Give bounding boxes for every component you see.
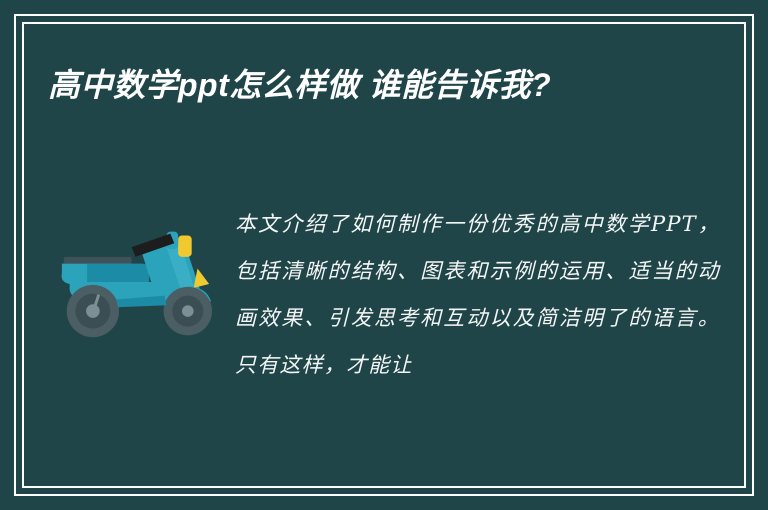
scooter-icon (58, 217, 213, 347)
page-title: 高中数学ppt怎么样做 谁能告诉我? (48, 62, 678, 109)
article-card: 高中数学ppt怎么样做 谁能告诉我? (0, 0, 768, 510)
illustration-container (48, 195, 223, 347)
content-area: 本文介绍了如何制作一份优秀的高中数学PPT，包括清晰的结构、图表和示例的运用、适… (48, 195, 720, 470)
article-body-text: 本文介绍了如何制作一份优秀的高中数学PPT，包括清晰的结构、图表和示例的运用、适… (223, 195, 720, 389)
